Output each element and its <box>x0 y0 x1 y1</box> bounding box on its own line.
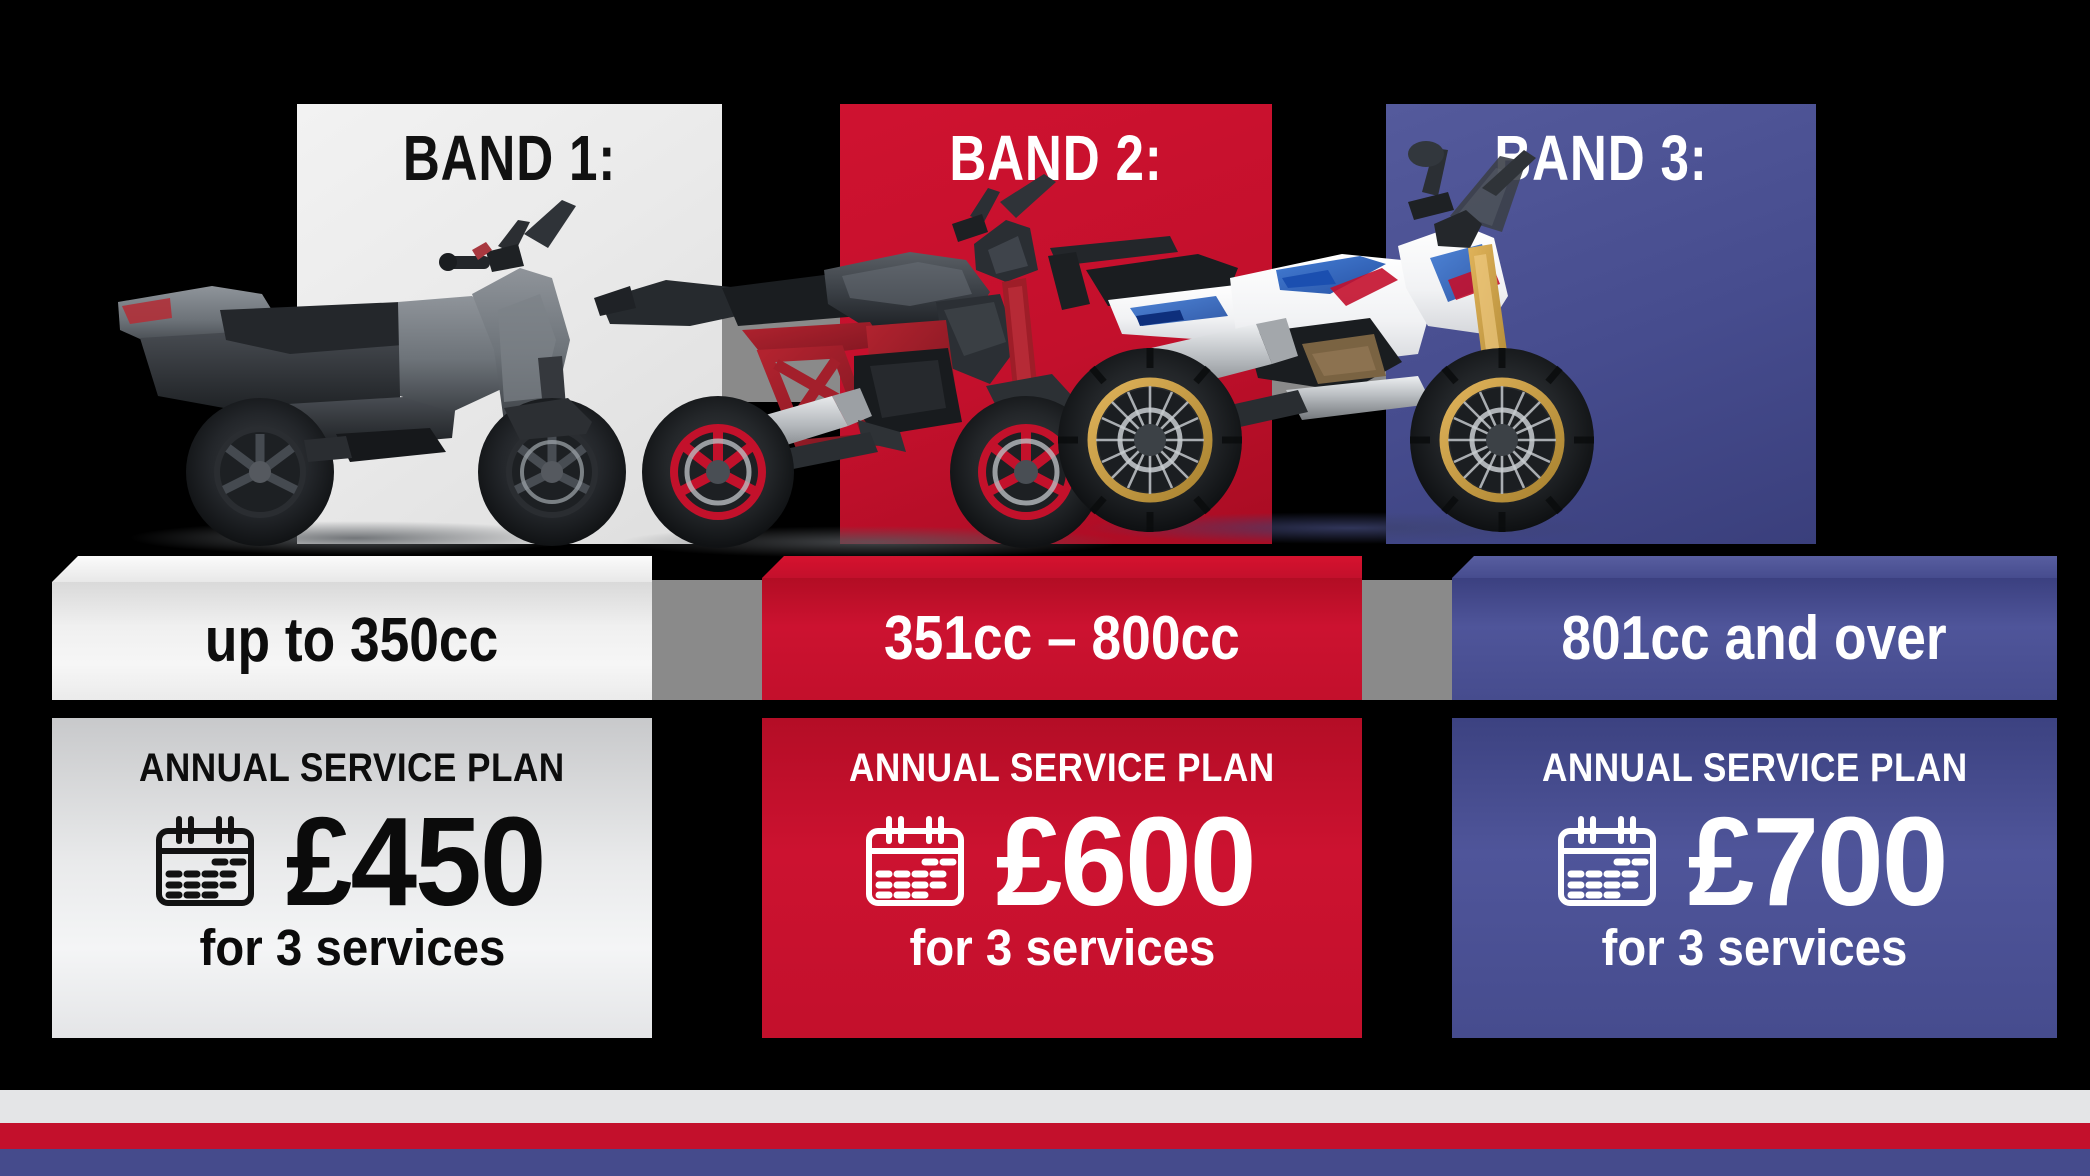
band-3-plan-title: ANNUAL SERVICE PLAN <box>1542 748 1968 788</box>
band-3-header-label: BAND 3: <box>1429 126 1773 190</box>
stripe-red <box>0 1123 2090 1149</box>
band-1-header-panel: BAND 1: <box>297 104 722 544</box>
band-3-podium: 801cc and over <box>1452 556 2057 700</box>
band-1-cc-label: up to 350cc <box>205 610 498 672</box>
band-3-podium-face: 801cc and over <box>1452 578 2057 700</box>
band-2-header-label: BAND 2: <box>883 126 1229 190</box>
band-2-podium-top-bevel <box>762 556 1362 578</box>
stripe-blue <box>0 1149 2090 1176</box>
brand-stripe-bar <box>0 1090 2090 1176</box>
band-2-podium-face: 351cc – 800cc <box>762 578 1362 700</box>
band-2-header-panel: BAND 2: <box>840 104 1272 544</box>
band-3-price-card: ANNUAL SERVICE PLAN £700 <box>1452 718 2057 1038</box>
band-3-price-amount: £700 <box>1688 804 1947 920</box>
infographic-canvas: BAND 1: BAND 2: BAND 3: up to 350cc 351c… <box>0 0 2090 1176</box>
calendar-icon <box>153 815 257 909</box>
band-2-cc-label: 351cc – 800cc <box>884 608 1240 670</box>
band-1-podium-face: up to 350cc <box>52 582 652 700</box>
band-3-podium-top-bevel <box>1452 556 2057 578</box>
band-2-services-note: for 3 services <box>909 922 1215 973</box>
band-1-price-row: £450 <box>52 804 652 920</box>
band-3-cc-label: 801cc and over <box>1562 608 1947 670</box>
calendar-icon <box>863 815 967 909</box>
band-1-services-note: for 3 services <box>199 922 505 973</box>
band-2-podium: 351cc – 800cc <box>762 556 1362 700</box>
band-1-price-card: ANNUAL SERVICE PLAN £450 <box>52 718 652 1038</box>
band-1-plan-title: ANNUAL SERVICE PLAN <box>139 748 565 788</box>
band-1-header-label: BAND 1: <box>340 126 680 190</box>
stripe-white <box>0 1090 2090 1123</box>
calendar-icon <box>1555 815 1659 909</box>
band-2-price-row: £600 <box>762 804 1362 920</box>
band-1-price-amount: £450 <box>286 804 545 920</box>
connector-bar-podium-right <box>1350 580 1460 700</box>
band-3-header-panel: BAND 3: <box>1386 104 1816 544</box>
band-3-services-note: for 3 services <box>1602 922 1908 973</box>
band-1-podium-top-bevel <box>52 556 652 582</box>
band-2-price-amount: £600 <box>996 804 1255 920</box>
band-3-price-row: £700 <box>1452 804 2057 920</box>
band-2-price-card: ANNUAL SERVICE PLAN £600 <box>762 718 1362 1038</box>
band-2-plan-title: ANNUAL SERVICE PLAN <box>849 748 1275 788</box>
band-1-podium: up to 350cc <box>52 556 652 700</box>
